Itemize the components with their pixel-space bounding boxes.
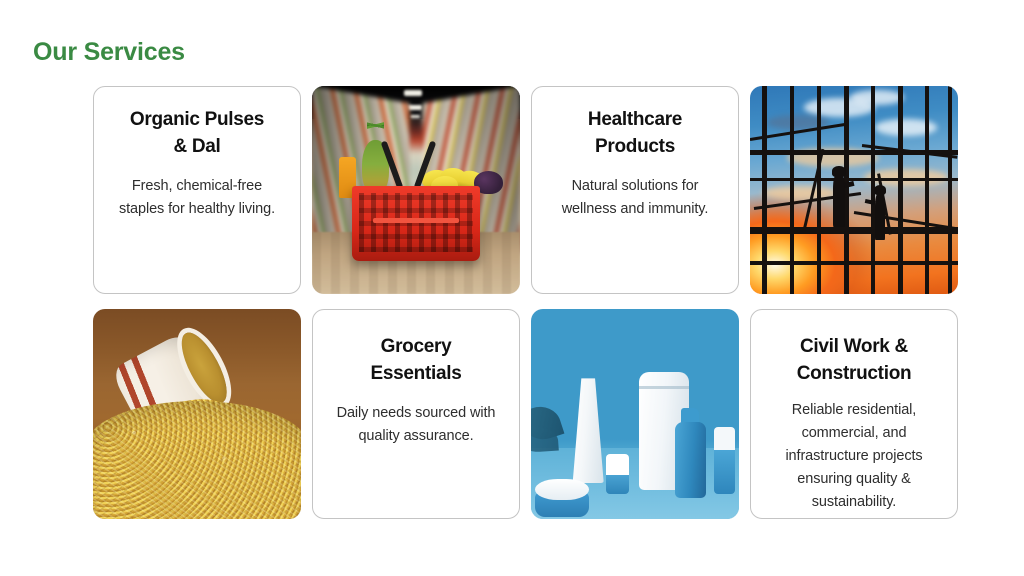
service-card-title-line1: Healthcare [588, 109, 682, 130]
cloud-icon [864, 169, 947, 186]
lentils-scene [93, 309, 301, 519]
service-card-title-line2: Construction [797, 363, 912, 384]
cream-jar-lid [535, 479, 589, 500]
service-card-civil-work-construction[interactable]: Civil Work & Construction Reliable resid… [750, 309, 958, 519]
worker-helmet-icon [874, 185, 887, 195]
cloud-icon [767, 115, 829, 130]
yellow-lentils-mug-photo[interactable] [93, 309, 301, 519]
service-card-title: Civil Work & Construction [797, 334, 912, 388]
service-card-description: Fresh, chemical-free staples for healthy… [108, 175, 286, 221]
cloud-icon [875, 119, 937, 136]
cloud-icon [762, 186, 837, 201]
service-card-description: Daily needs sourced with quality assuran… [327, 402, 505, 448]
cloud-icon [850, 90, 904, 105]
service-card-title: Healthcare Products [588, 107, 682, 161]
worker-silhouette-icon [875, 194, 885, 240]
service-card-title-line2: & Dal [173, 136, 220, 157]
small-jar [606, 454, 629, 494]
service-card-organic-pulses[interactable]: Organic Pulses & Dal Fresh, chemical-fre… [93, 86, 301, 294]
worker-silhouette-icon [833, 175, 844, 227]
worker-helmet-icon [832, 166, 846, 177]
basket-rim [373, 218, 458, 223]
service-card-title: Grocery Essentials [371, 334, 462, 388]
service-card-title-line2: Products [595, 136, 675, 157]
service-card-title: Organic Pulses & Dal [130, 107, 264, 161]
service-card-description: Natural solutions for wellness and immun… [546, 175, 724, 221]
worker-arm [865, 199, 876, 205]
service-card-title-line1: Grocery [381, 336, 452, 357]
service-card-title-line1: Organic Pulses [130, 109, 264, 130]
service-card-title-line2: Essentials [371, 363, 462, 384]
construction-scaffolding-sunset-photo[interactable] [750, 86, 958, 294]
service-card-healthcare-products[interactable]: Healthcare Products Natural solutions fo… [531, 86, 739, 294]
worker-arm [843, 180, 854, 187]
ceiling-light-icon [408, 105, 423, 110]
supermarket-scene [312, 86, 520, 294]
blue-pump-bottle [675, 422, 706, 498]
cloud-icon [787, 148, 879, 167]
healthcare-bottles-photo[interactable] [531, 309, 739, 519]
sunset-sky-scene [750, 86, 958, 294]
service-card-title-line1: Civil Work & [800, 336, 908, 357]
service-card-description: Reliable residential, commercial, and in… [765, 399, 943, 514]
tall-thin-bottle [714, 427, 735, 494]
page-title: Our Services [33, 38, 185, 67]
services-grid: Organic Pulses & Dal Fresh, chemical-fre… [93, 86, 958, 519]
lentils-pile [93, 401, 301, 519]
cream-tube [573, 378, 604, 483]
service-card-grocery-essentials[interactable]: Grocery Essentials Daily needs sourced w… [312, 309, 520, 519]
ceiling-light-icon [404, 90, 423, 96]
supermarket-basket-photo[interactable] [312, 86, 520, 294]
bottles-scene [531, 309, 739, 519]
shopping-basket-icon [352, 186, 481, 261]
